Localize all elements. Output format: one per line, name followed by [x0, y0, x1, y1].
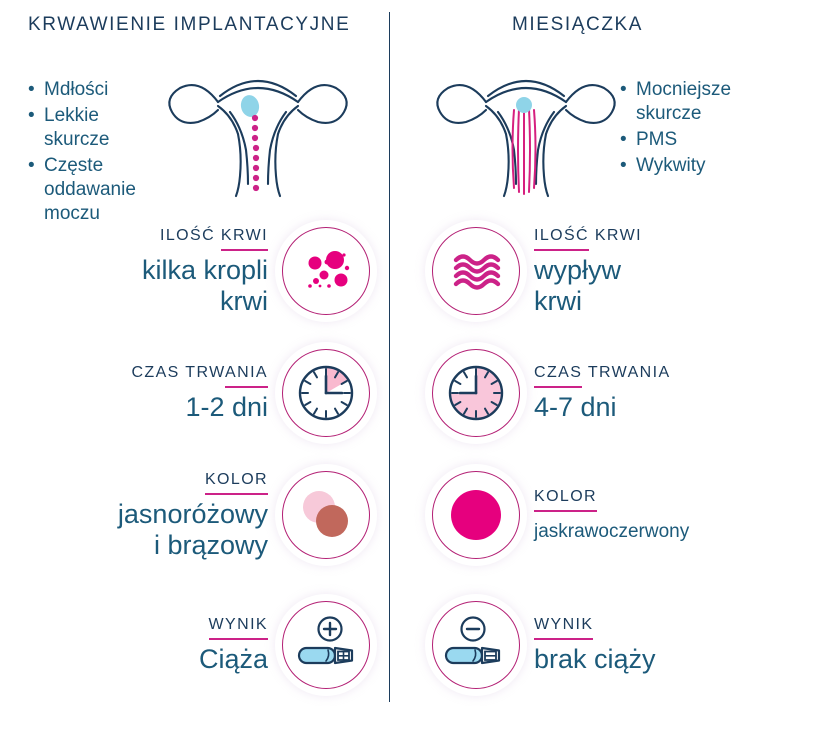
text-block: KOLOR jasnoróżowy i brązowy	[118, 470, 282, 561]
column-title-right: MIESIĄCZKA	[512, 14, 643, 36]
solid-circle-icon	[432, 471, 520, 559]
text-block: WYNIK Ciąża	[199, 615, 282, 675]
blood-flow-waves-icon	[432, 227, 520, 315]
kicker-plain: CZAS TRW	[131, 364, 225, 381]
kicker-underlined: WYNIK	[209, 616, 268, 640]
row-value: 1-2 dni	[185, 392, 268, 423]
plus-icon	[324, 623, 336, 635]
row-kicker: CZAS TRWANIA	[534, 363, 671, 383]
symptom-list-left: Mdłości Lekkie skurcze Częste oddawanie …	[28, 78, 173, 228]
uterus-implantation-diagram	[160, 58, 356, 198]
list-item: Lekkie skurcze	[28, 104, 173, 152]
test-stick	[446, 648, 499, 663]
text-block: ILOŚĆ KRWI kilka kropli krwi	[142, 226, 282, 317]
kicker-underlined: ILOŚĆ	[534, 227, 589, 251]
row-kicker: CZAS TRWANIA	[131, 363, 268, 383]
kicker-underlined: KOLOR	[534, 488, 597, 512]
row-kicker: KOLOR	[205, 470, 268, 490]
row-kicker: KOLOR	[534, 487, 597, 507]
row-value: brak ciąży	[534, 644, 656, 675]
cell-right: ILOŚĆ KRWI wypływ krwi	[432, 212, 802, 330]
list-item: Mdłości	[28, 78, 173, 102]
symptom-text: Mocniejsze skurcze	[636, 79, 731, 124]
kicker-plain: ILOŚĆ	[160, 227, 221, 244]
clock-icon	[432, 349, 520, 437]
text-block: WYNIK brak ciąży	[520, 615, 656, 675]
row-value: 4-7 dni	[534, 392, 617, 423]
embryo-blob	[239, 93, 261, 118]
symptom-list-right: Mocniejsze skurcze PMS Wykwity	[620, 78, 800, 180]
symptom-text: Mdłości	[44, 79, 108, 100]
list-item: Mocniejsze skurcze	[620, 78, 800, 126]
pregnancy-test-negative-icon	[432, 601, 520, 689]
cell-left: ILOŚĆ KRWI kilka kropli krwi	[20, 212, 370, 330]
test-stick	[299, 648, 352, 663]
row-value: jaskrawoczerwony	[534, 520, 689, 543]
row-kicker: ILOŚĆ KRWI	[160, 226, 268, 246]
kicker-plain: KRWI	[589, 227, 642, 244]
row-value: kilka kropli krwi	[142, 255, 268, 317]
row-kicker: WYNIK	[534, 615, 593, 635]
text-block: ILOŚĆ KRWI wypływ krwi	[520, 226, 642, 317]
implantation-spotting-dots	[252, 115, 259, 191]
text-block: CZAS TRWANIA 1-2 dni	[131, 363, 282, 423]
infographic-root: KRWAWIENIE IMPLANTACYJNE MIESIĄCZKA Mdło…	[0, 0, 813, 737]
row-kicker: WYNIK	[209, 615, 268, 635]
kicker-underlined: KRWI	[221, 227, 268, 251]
row-value: wypływ krwi	[534, 255, 621, 317]
row-value: Ciąża	[199, 644, 268, 675]
uterus-menstruation-diagram	[428, 58, 624, 198]
row-result: WYNIK Ciąża	[0, 586, 813, 704]
symptom-text: Wykwity	[636, 155, 706, 176]
cell-left: KOLOR jasnoróżowy i brązowy	[20, 456, 370, 574]
two-tone-circles-icon	[282, 471, 370, 559]
kicker-underlined: ANIA	[225, 364, 268, 388]
ovum-blob	[516, 97, 532, 113]
cell-right: CZAS TRWANIA 4-7 dni	[432, 334, 802, 452]
list-item: Wykwity	[620, 154, 800, 178]
cell-left: WYNIK Ciąża	[20, 586, 370, 704]
kicker-underlined: WYNIK	[534, 616, 593, 640]
column-title-left: KRWAWIENIE IMPLANTACYJNE	[28, 14, 350, 36]
symptom-text: PMS	[636, 129, 677, 150]
row-value: jasnoróżowy i brązowy	[118, 499, 268, 561]
blood-drops-icon	[282, 227, 370, 315]
list-item: PMS	[620, 128, 800, 152]
text-block: KOLOR jaskrawoczerwony	[520, 487, 689, 543]
pregnancy-test-positive-icon	[282, 601, 370, 689]
text-block: CZAS TRWANIA 4-7 dni	[520, 363, 671, 423]
cell-right: KOLOR jaskrawoczerwony	[432, 456, 802, 574]
row-amount-of-blood: ILOŚĆ KRWI kilka kropli krwi	[0, 212, 813, 330]
row-kicker: ILOŚĆ KRWI	[534, 226, 642, 246]
cell-right: WYNIK brak ciąży	[432, 586, 802, 704]
kicker-underlined: CZAS	[534, 364, 582, 388]
row-duration: CZAS TRWANIA 1-2 dni	[0, 334, 813, 452]
row-color: KOLOR jasnoróżowy i brązowy KOLOR jaskra…	[0, 456, 813, 574]
symptom-text: Lekkie skurcze	[44, 105, 109, 150]
kicker-underlined: KOLOR	[205, 471, 268, 495]
clock-icon	[282, 349, 370, 437]
cell-left: CZAS TRWANIA 1-2 dni	[20, 334, 370, 452]
kicker-plain: TRWANIA	[582, 364, 670, 381]
